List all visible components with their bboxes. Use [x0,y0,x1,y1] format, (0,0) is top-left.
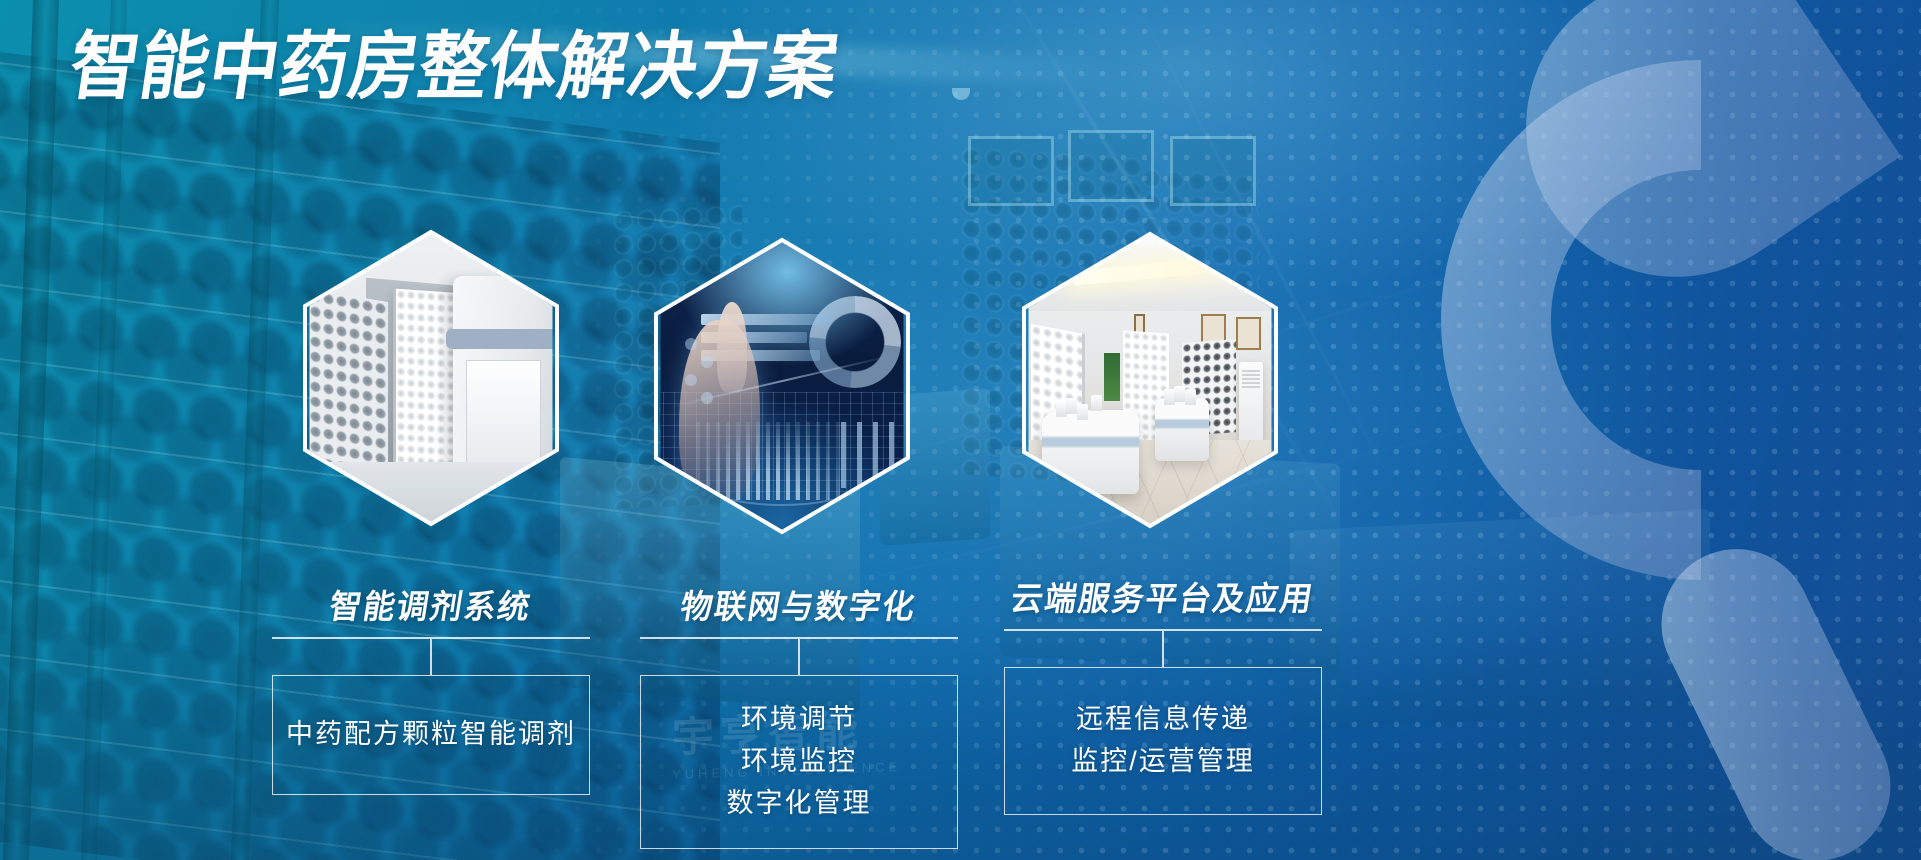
feature-group-intelligent-dispensing: 智能调剂系统 中药配方颗粒智能调剂 [272,580,590,795]
feature-group-iot-digitalization: 物联网与数字化 环境调节 环境监控 数字化管理 [640,580,958,849]
feature-detail-line: 中药配方颗粒智能调剂 [286,714,576,756]
hexagon-outline [1015,230,1285,530]
hexagon-outline [296,228,566,528]
poster-canvas: 宇亨智能 YUHENG INTELLIGENCE 智能中药房整体解决方案 [0,0,1921,860]
hexagon-card-iot-digitalization[interactable] [647,236,917,536]
feature-detail-box: 中药配方颗粒智能调剂 [272,675,590,795]
feature-group-cloud-service-platform: 云端服务平台及应用 远程信息传递 监控/运营管理 [1004,572,1322,815]
hexagon-outline [647,236,917,536]
feature-detail-line: 环境调节 [741,699,857,741]
feature-detail-line: 环境监控 [741,741,857,783]
feature-detail-line: 数字化管理 [727,783,872,825]
feature-title: 智能调剂系统 [275,580,588,628]
page-title: 智能中药房整体解决方案 [65,30,843,104]
feature-detail-line: 监控/运营管理 [1071,741,1255,783]
feature-title: 物联网与数字化 [643,580,956,628]
feature-detail-box: 环境调节 环境监控 数字化管理 [640,675,958,849]
connector-line [430,639,432,675]
feature-title: 云端服务平台及应用 [1007,572,1320,620]
feature-detail-box: 远程信息传递 监控/运营管理 [1004,667,1322,815]
hexagon-card-intelligent-dispensing[interactable] [296,228,566,528]
connector-line [1162,631,1164,667]
connector-line [798,639,800,675]
feature-detail-line: 远程信息传递 [1076,699,1250,741]
hexagon-card-cloud-service-platform[interactable] [1015,230,1285,530]
